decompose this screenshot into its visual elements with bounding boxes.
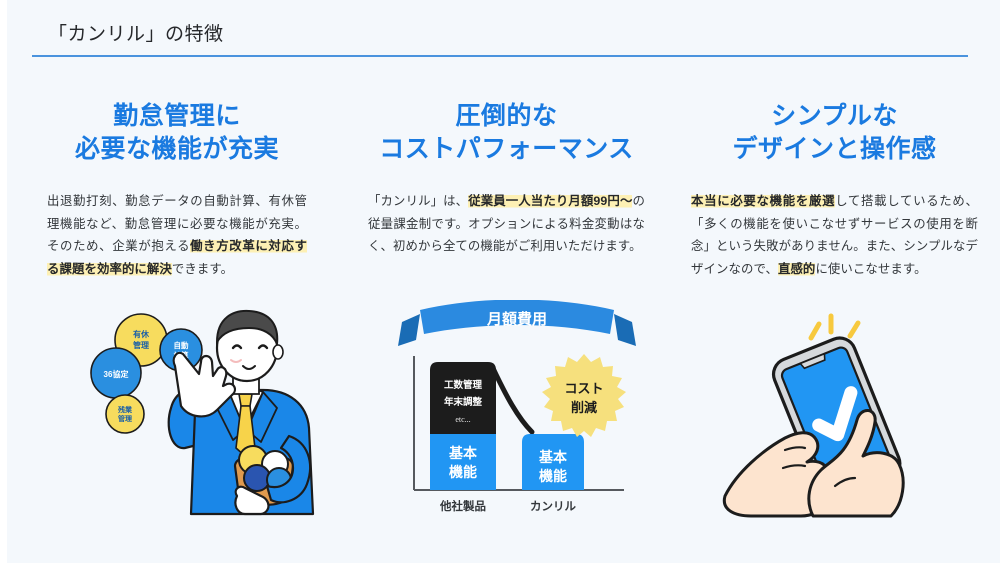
bar-extra-label-1: 工数管理 — [444, 379, 483, 391]
sparkle-icon — [811, 316, 858, 338]
smartphone-illustration-svg — [707, 300, 962, 530]
bubble-label-line1: 自動 — [174, 340, 189, 350]
slide-canvas: 「カンリル」の特徴 勤怠管理に 必要な機能が充実 出退勤打刻、勤怠データの自動計… — [0, 0, 1000, 563]
feature-body-3: 本当に必要な機能を厳選して搭載しているため、「多くの機能を使いこなせずサービスの… — [691, 190, 978, 280]
title-underline-rule — [32, 55, 968, 57]
page-title: 「カンリル」の特徴 — [48, 22, 968, 48]
bubble-zangyou-kanri: 残業 管理 — [106, 395, 144, 433]
bar-basic-label-line2: 機能 — [449, 464, 477, 480]
feature-heading-2: 圧倒的な コストパフォーマンス — [379, 100, 634, 166]
cost-reduction-starburst: コスト 削減 — [542, 354, 626, 437]
chart-category-label-1: カンリル — [530, 500, 576, 513]
bar-basic-label-line1: 基本 — [539, 449, 568, 465]
businessman-illustration-svg: 有休 管理 自動 計算 36協定 残業 管理 — [67, 300, 347, 530]
cost-chart-svg: 月額費用 工数管理 年末調整 etc... 基本 機能 — [392, 300, 642, 530]
cost-drop-arrow — [492, 366, 532, 432]
banner-label: 月額費用 — [486, 310, 547, 328]
bar-extra-label-3: etc... — [455, 415, 470, 424]
starburst-label-line2: 削減 — [571, 400, 597, 415]
header: 「カンリル」の特徴 — [48, 22, 968, 48]
starburst-label-line1: コスト — [564, 381, 603, 396]
bubble-label: 36協定 — [104, 369, 129, 379]
bubble-label-line2: 管理 — [118, 414, 132, 423]
feature-body-1: 出退勤打刻、勤怠データの自動計算、有休管理機能など、勤怠管理に必要な機能が充実。… — [47, 190, 307, 280]
illustration-smartphone — [707, 300, 962, 530]
bubble-36-kyoutei: 36協定 — [91, 348, 141, 398]
monthly-cost-banner: 月額費用 — [398, 300, 636, 346]
bar-basic-label-line1: 基本 — [449, 445, 478, 461]
bar-competitor: 工数管理 年末調整 etc... 基本 機能 — [430, 362, 496, 490]
feature-heading-1: 勤怠管理に 必要な機能が充実 — [75, 100, 279, 166]
body-text-highlight: 本当に必要な機能を厳選 — [691, 194, 835, 208]
feature-column-2: 圧倒的な コストパフォーマンス 「カンリル」は、従業員一人当たり月額99円〜の従… — [340, 100, 673, 280]
body-text-plain: できます。 — [172, 262, 233, 276]
feature-heading-3: シンプルな デザインと操作感 — [732, 100, 936, 166]
feature-columns: 勤怠管理に 必要な機能が充実 出退勤打刻、勤怠データの自動計算、有休管理機能など… — [7, 100, 1000, 280]
bar-extra-label-2: 年末調整 — [444, 396, 483, 408]
body-text-plain: 「カンリル」は、 — [368, 194, 468, 208]
bar-kanriru: 基本 機能 — [522, 434, 584, 490]
feature-body-2: 「カンリル」は、従業員一人当たり月額99円〜の従量課金制です。オプションによる料… — [368, 190, 645, 258]
illustration-businessman: 有休 管理 自動 計算 36協定 残業 管理 — [67, 300, 347, 530]
illustration-row: 有休 管理 自動 計算 36協定 残業 管理 — [7, 300, 1000, 540]
body-text-highlight: 従業員一人当たり月額99円〜 — [468, 194, 632, 208]
bar-basic-label-line2: 機能 — [539, 468, 567, 484]
body-text-highlight: 直感的 — [778, 262, 815, 276]
bar-segment-basic-features — [430, 434, 496, 490]
bubble-label-line1: 残業 — [118, 405, 133, 414]
feature-column-3: シンプルな デザインと操作感 本当に必要な機能を厳選して搭載しているため、「多く… — [673, 100, 1000, 280]
body-text-plain: に使いこなせます。 — [815, 262, 926, 276]
illustration-cost-chart: 月額費用 工数管理 年末調整 etc... 基本 機能 — [392, 300, 642, 530]
chart-category-label-0: 他社製品 — [439, 499, 486, 513]
bubble-label-line1: 有休 — [133, 329, 150, 339]
feature-column-1: 勤怠管理に 必要な機能が充実 出退勤打刻、勤怠データの自動計算、有休管理機能など… — [7, 100, 340, 280]
bubble-label-line2: 管理 — [133, 340, 149, 350]
